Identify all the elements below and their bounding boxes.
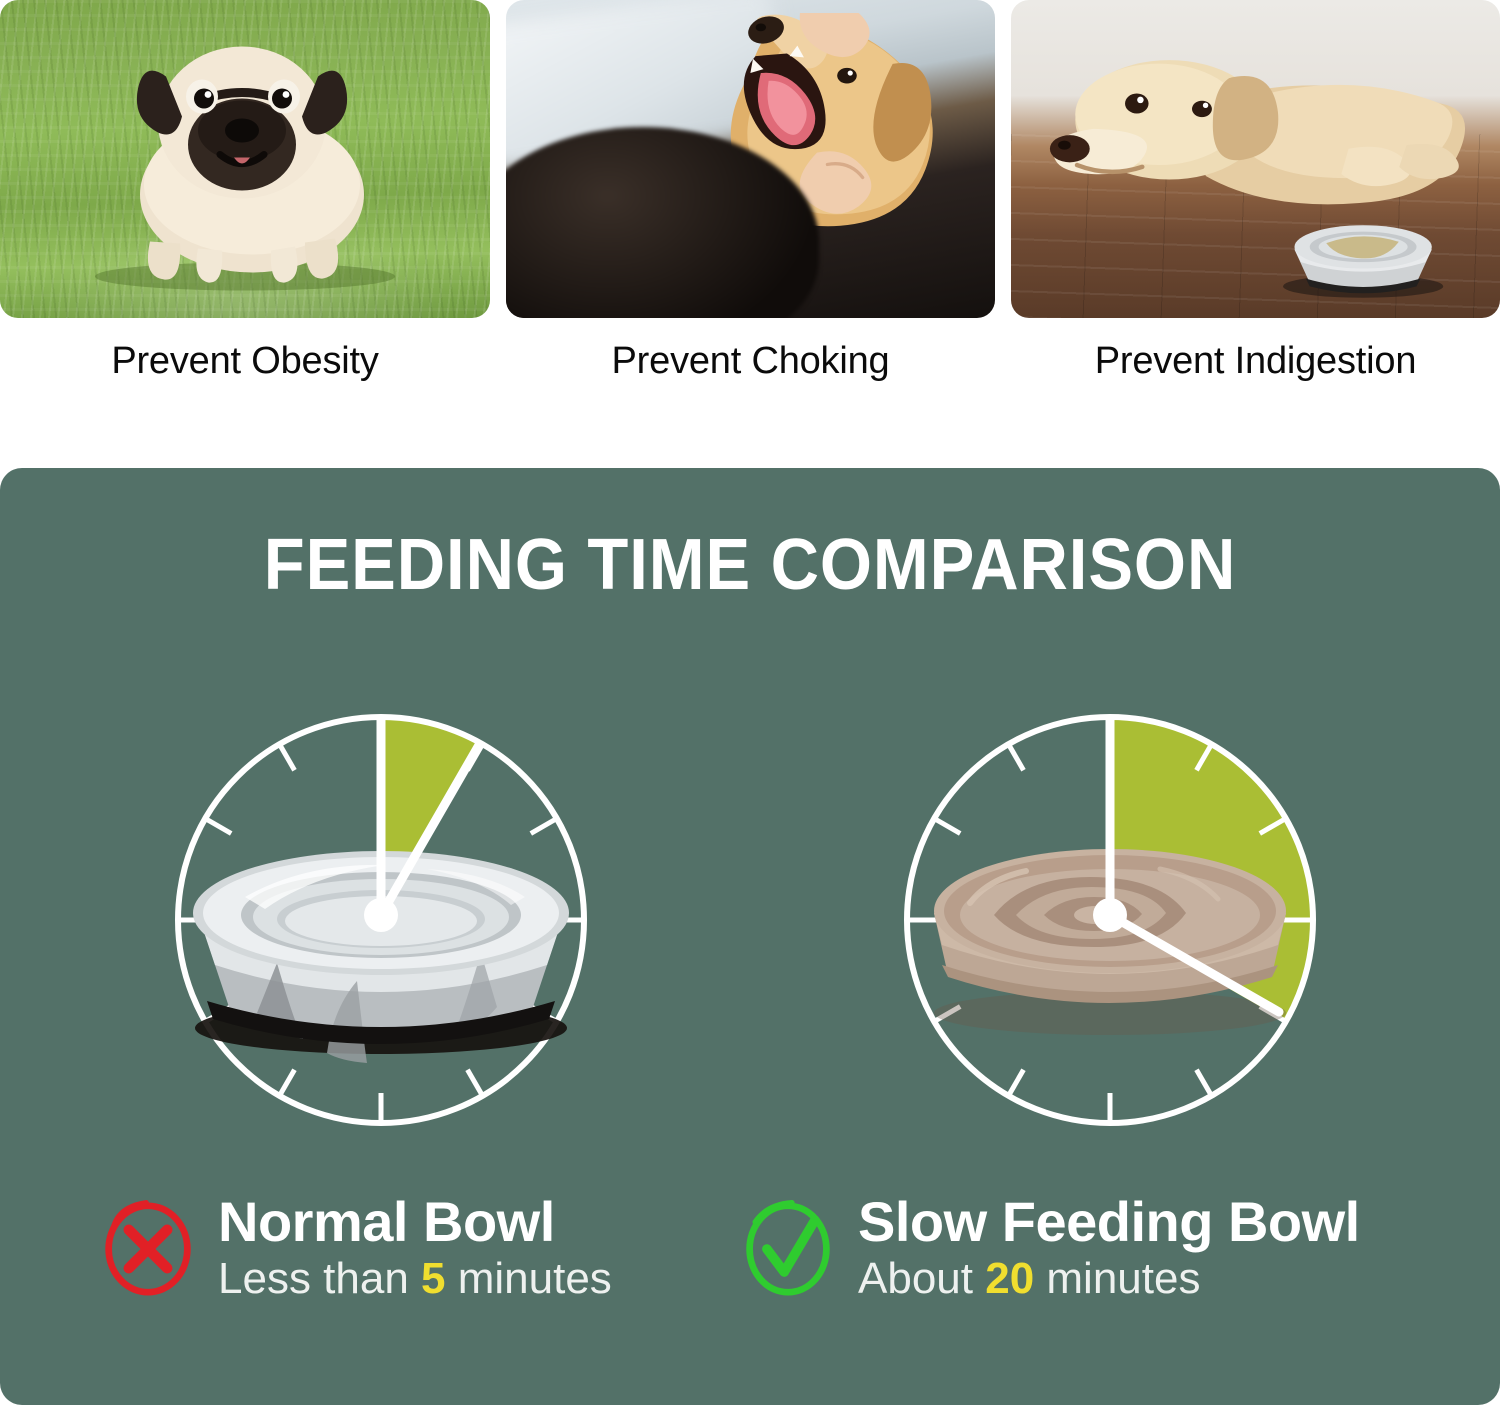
photo-pug-icon: [0, 0, 490, 318]
result-sub-suffix: minutes: [446, 1254, 612, 1303]
result-text-block: Slow Feeding Bowl About 20 minutes: [858, 1193, 1360, 1305]
result-subtitle: Less than 5 minutes: [218, 1254, 612, 1305]
result-normal-bowl: Normal Bowl Less than 5 minutes: [100, 1184, 612, 1314]
green-check-circle-icon: [740, 1199, 836, 1299]
result-sub-prefix: Less than: [218, 1254, 421, 1303]
benefit-card-prevent-indigestion: Prevent Indigestion: [1011, 0, 1500, 318]
result-sub-prefix: About: [858, 1254, 985, 1303]
stainless-bowl-illustration: [1236, 210, 1490, 299]
result-title: Slow Feeding Bowl: [858, 1193, 1360, 1250]
result-sub-value: 5: [421, 1254, 445, 1303]
benefit-label: Prevent Obesity: [0, 340, 490, 383]
stainless-steel-bowl-icon: [181, 813, 581, 1063]
result-text-block: Normal Bowl Less than 5 minutes: [218, 1193, 612, 1305]
slow-feeder-maze-bowl-icon: [920, 817, 1300, 1047]
page-title: FEEDING TIME COMPARISON: [53, 524, 1448, 606]
result-slow-feeding-bowl: Slow Feeding Bowl About 20 minutes: [740, 1184, 1360, 1314]
feeding-time-comparison-panel: FEEDING TIME COMPARISON: [0, 468, 1500, 1405]
benefit-card-prevent-choking: Prevent Choking: [506, 0, 995, 318]
pug-dog-illustration: [80, 27, 410, 292]
result-subtitle: About 20 minutes: [858, 1254, 1360, 1305]
photo-choking-icon: [506, 0, 995, 318]
red-cross-circle-icon: [100, 1199, 196, 1299]
result-sub-suffix: minutes: [1034, 1254, 1200, 1303]
slow-feeding-bowl-dial: [885, 695, 1335, 1145]
result-sub-value: 20: [985, 1254, 1034, 1303]
benefit-label: Prevent Choking: [506, 340, 995, 383]
result-title: Normal Bowl: [218, 1193, 612, 1250]
photo-indigestion-icon: [1011, 0, 1500, 318]
benefit-label: Prevent Indigestion: [1011, 340, 1500, 383]
normal-bowl-dial: [156, 695, 606, 1145]
benefits-strip: Prevent Obesity: [0, 0, 1500, 440]
benefit-card-prevent-obesity: Prevent Obesity: [0, 0, 490, 318]
